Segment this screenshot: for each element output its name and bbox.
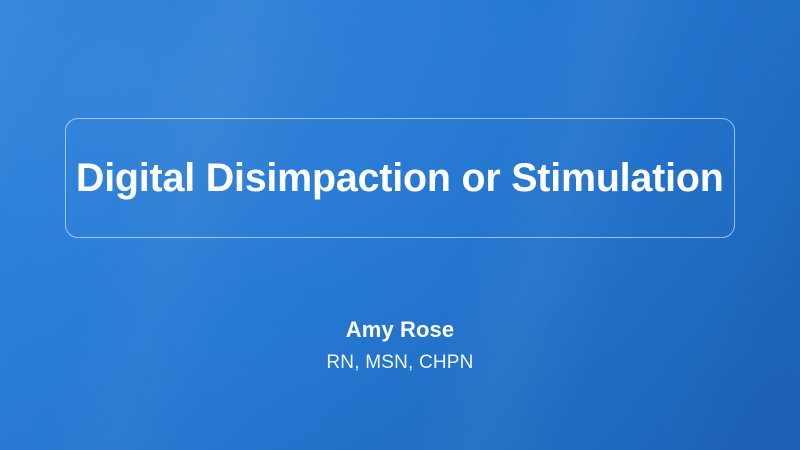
title-card: Digital Disimpaction or Stimulation <box>65 118 735 238</box>
slide-title: Digital Disimpaction or Stimulation <box>76 156 724 200</box>
slide-content: Digital Disimpaction or Stimulation Amy … <box>0 0 800 450</box>
presenter-credentials: RN, MSN, CHPN <box>0 351 800 376</box>
title-slide: Digital Disimpaction or Stimulation Amy … <box>0 0 800 450</box>
presenter-block: Amy Rose RN, MSN, CHPN <box>0 316 800 375</box>
presenter-name: Amy Rose <box>0 316 800 344</box>
